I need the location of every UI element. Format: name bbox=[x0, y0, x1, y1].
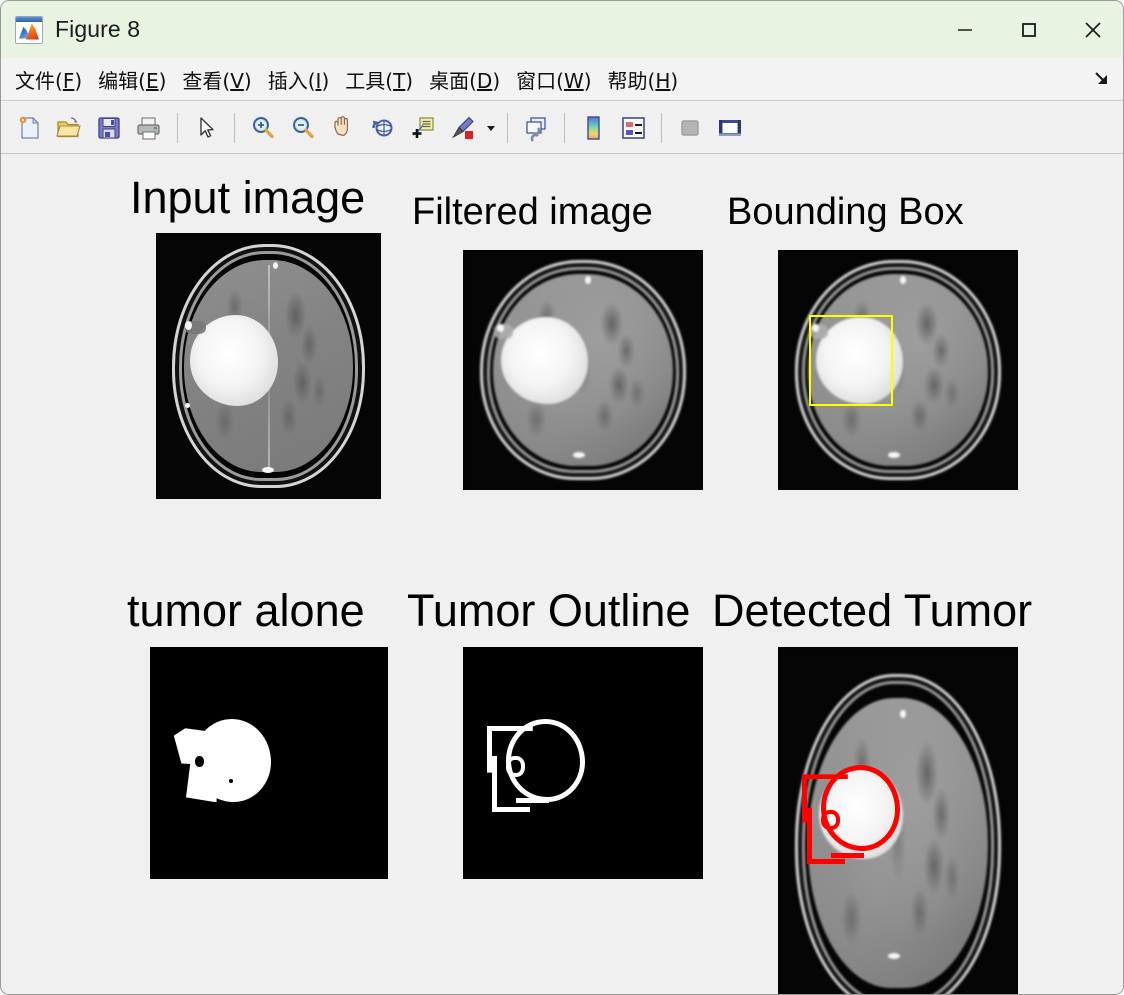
toolbar-separator bbox=[564, 113, 565, 143]
colorbar-icon[interactable] bbox=[573, 107, 613, 149]
save-figure-icon[interactable] bbox=[89, 107, 129, 149]
pan-hand-icon[interactable] bbox=[323, 107, 363, 149]
panel-image-tumor-alone[interactable] bbox=[150, 647, 388, 879]
open-file-icon[interactable] bbox=[49, 107, 89, 149]
link-plot-icon[interactable] bbox=[516, 107, 556, 149]
menu-item-desktop[interactable]: 桌面(D) bbox=[421, 62, 508, 97]
matlab-logo-icon bbox=[15, 16, 43, 44]
title-bar: Figure 8 bbox=[1, 1, 1124, 58]
maximize-icon[interactable] bbox=[997, 1, 1061, 58]
brush-data-icon[interactable] bbox=[443, 107, 483, 149]
tumor-bounding-box-rect bbox=[809, 315, 893, 406]
close-icon[interactable] bbox=[1061, 1, 1124, 58]
menu-item-edit[interactable]: 编辑(E) bbox=[90, 62, 174, 97]
figure-palette-icon[interactable] bbox=[710, 107, 750, 149]
minimize-icon[interactable] bbox=[933, 1, 997, 58]
panel-image-tumor-outline[interactable] bbox=[463, 647, 703, 879]
menu-item-window[interactable]: 窗口(W) bbox=[508, 62, 599, 97]
toolbar-separator bbox=[234, 113, 235, 143]
mask-hole bbox=[195, 756, 204, 767]
menu-item-help[interactable]: 帮助(H) bbox=[600, 62, 687, 97]
print-figure-icon[interactable] bbox=[129, 107, 169, 149]
figure-window: Figure 8 文件(F) 编辑(E) 查看(V) bbox=[0, 0, 1124, 995]
menu-item-view[interactable]: 查看(V) bbox=[174, 62, 259, 97]
panel-title-input-image: Input image bbox=[130, 172, 365, 224]
menu-item-insert[interactable]: 插入(I) bbox=[260, 62, 338, 97]
panel-title-bounding-box: Bounding Box bbox=[727, 191, 964, 234]
rotate-3d-icon[interactable] bbox=[363, 107, 403, 149]
legend-icon[interactable] bbox=[613, 107, 653, 149]
panel-title-tumor-outline: Tumor Outline bbox=[407, 585, 690, 637]
insert-rectangle-icon bbox=[670, 107, 710, 149]
zoom-out-icon[interactable] bbox=[283, 107, 323, 149]
panel-title-detected-tumor: Detected Tumor bbox=[712, 585, 1032, 637]
toolbar-separator bbox=[507, 113, 508, 143]
data-cursor-icon[interactable] bbox=[403, 107, 443, 149]
menu-item-file[interactable]: 文件(F) bbox=[7, 62, 90, 97]
new-figure-icon[interactable] bbox=[9, 107, 49, 149]
panel-image-bounding-box[interactable] bbox=[778, 250, 1018, 490]
menu-item-tools[interactable]: 工具(T) bbox=[337, 62, 421, 97]
toolbar-separator bbox=[177, 113, 178, 143]
caption-buttons bbox=[933, 1, 1124, 58]
panel-image-detected-tumor[interactable] bbox=[778, 647, 1018, 995]
zoom-in-icon[interactable] bbox=[243, 107, 283, 149]
panel-title-filtered-image: Filtered image bbox=[412, 191, 653, 234]
panel-image-input-image[interactable] bbox=[156, 233, 381, 499]
brush-dropdown-caret[interactable] bbox=[483, 107, 499, 149]
figure-canvas: Input image Filtered image bbox=[2, 155, 1124, 995]
window-title: Figure 8 bbox=[55, 16, 140, 43]
panel-image-filtered-image[interactable] bbox=[463, 250, 703, 490]
mask-hole bbox=[229, 779, 233, 783]
toolbar-separator bbox=[661, 113, 662, 143]
figure-toolbar bbox=[1, 102, 1124, 154]
edit-plot-pointer-icon[interactable] bbox=[186, 107, 226, 149]
dock-arrow-icon[interactable] bbox=[1091, 68, 1113, 90]
panel-title-tumor-alone: tumor alone bbox=[127, 585, 365, 637]
menu-bar: 文件(F) 编辑(E) 查看(V) 插入(I) 工具(T) 桌面(D) 窗口(W… bbox=[1, 58, 1124, 101]
